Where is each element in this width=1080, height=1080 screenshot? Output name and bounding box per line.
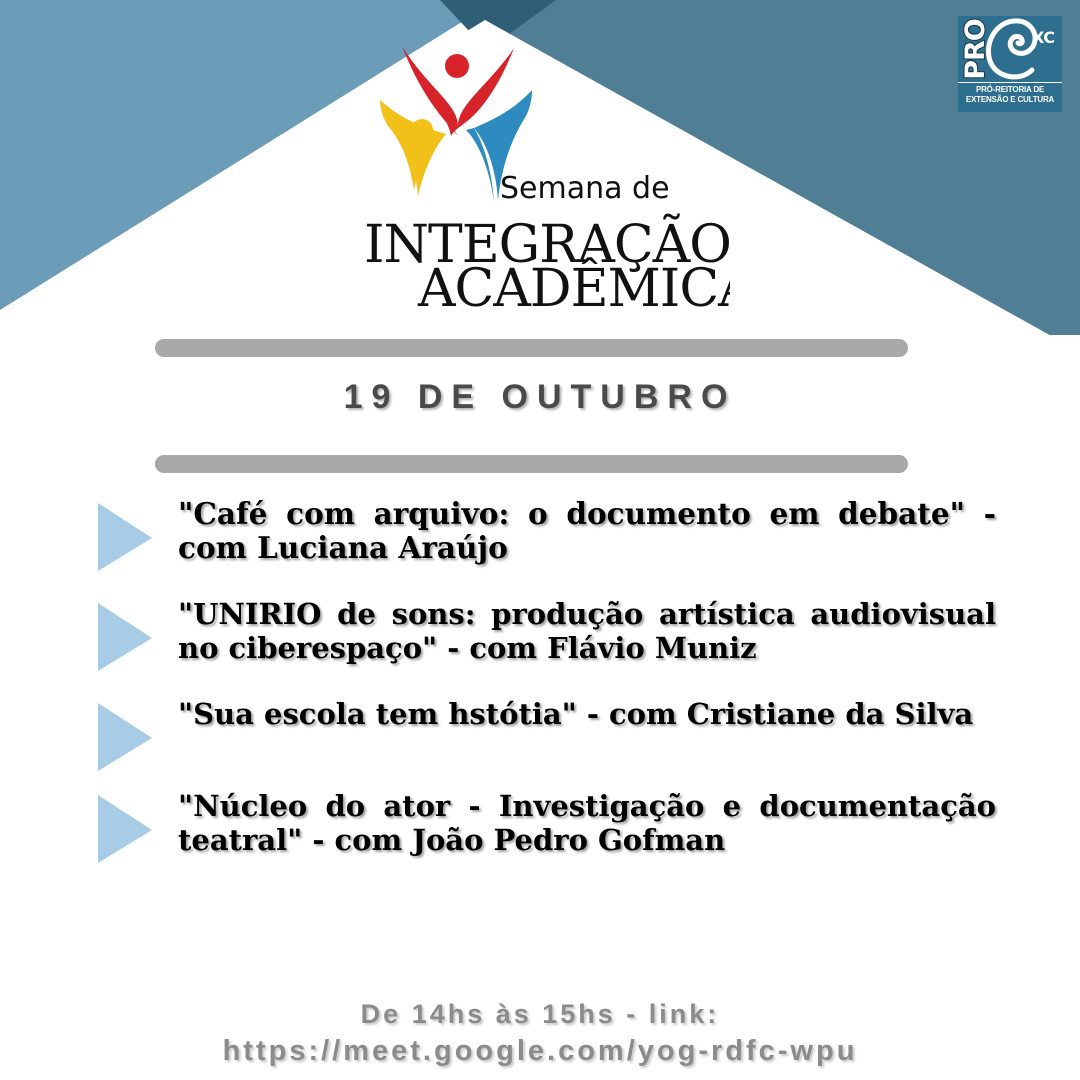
poster-canvas: PRO XC PRÓ-REITORIA DE EXTENSÃO E CULTUR…: [0, 0, 1080, 1080]
proexc-mark: PRO XC: [958, 16, 1062, 82]
footer-time-text: De 14hs às 15hs - link:: [0, 997, 1080, 1031]
sessions-list: "Café com arquivo: o documento em debate…: [96, 497, 996, 865]
proexc-caption-line-2: EXTENSÃO E CULTURA: [958, 95, 1062, 105]
proexc-caption-line-1: PRÓ-REITORIA DE: [958, 85, 1062, 95]
proexc-logo: PRO XC PRÓ-REITORIA DE EXTENSÃO E CULTUR…: [958, 16, 1062, 112]
footer-meeting-link[interactable]: https://meet.google.com/yog-rdfc-wpu: [0, 1031, 1080, 1071]
session-title: "UNIRIO de sons: produção artística audi…: [178, 597, 996, 665]
event-logo-tagline: Semana de: [500, 171, 670, 206]
session-item: "Café com arquivo: o documento em debate…: [96, 497, 996, 573]
triangle-bullet-icon: [96, 701, 154, 773]
session-title: "Núcleo do ator - Investigação e documen…: [178, 789, 996, 857]
date-rule-top: [155, 339, 908, 357]
triangle-bullet-icon: [96, 793, 154, 865]
proexc-spiral-icon: [986, 16, 1038, 82]
date-title: 19 DE OUTUBRO: [0, 378, 1080, 417]
session-item: "Núcleo do ator - Investigação e documen…: [96, 789, 996, 865]
triangle-bullet-icon: [96, 601, 154, 673]
proexc-pro-label: PRO: [962, 19, 989, 80]
session-item: "UNIRIO de sons: produção artística audi…: [96, 597, 996, 673]
proexc-xc-label: XC: [1032, 30, 1055, 46]
yellow-figure-icon: [380, 100, 446, 196]
event-logo: Semana de INTEGRAÇÃO ACADÊMICA: [350, 18, 730, 308]
footer: De 14hs às 15hs - link: https://meet.goo…: [0, 997, 1080, 1071]
triangle-bullet-icon: [96, 501, 154, 573]
date-rule-bottom: [155, 455, 908, 473]
proexc-caption: PRÓ-REITORIA DE EXTENSÃO E CULTURA: [958, 82, 1062, 105]
event-logo-title-line-2: ACADÊMICA: [417, 257, 730, 308]
session-title: "Sua escola tem hstótia" - com Cristiane…: [178, 697, 996, 731]
session-item: "Sua escola tem hstótia" - com Cristiane…: [96, 697, 996, 773]
session-title: "Café com arquivo: o documento em debate…: [178, 497, 996, 565]
